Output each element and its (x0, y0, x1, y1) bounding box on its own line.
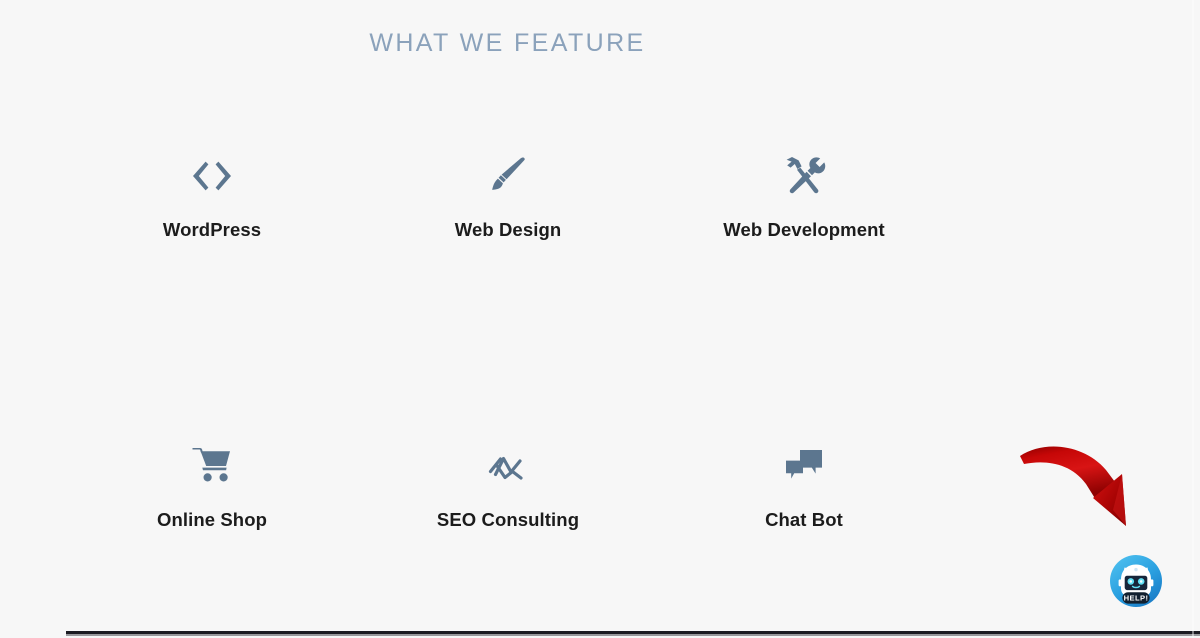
chat-widget-button[interactable]: HELP! (1109, 554, 1163, 608)
speech-bubbles-icon (782, 440, 826, 492)
bottom-divider-shadow (66, 634, 1200, 636)
page-canvas: WHAT WE FEATURE WordPress (0, 0, 1200, 638)
line-chart-icon (485, 440, 531, 492)
feature-label: Web Development (723, 219, 885, 241)
feature-label: Online Shop (157, 509, 267, 531)
feature-label: Chat Bot (765, 509, 843, 531)
feature-row: WordPress Web Design (64, 150, 952, 241)
feature-label: Web Design (455, 219, 562, 241)
viewport-edge-seam (1192, 0, 1194, 638)
feature-label: WordPress (163, 219, 261, 241)
feature-item-web-design[interactable]: Web Design (360, 150, 656, 241)
shopping-cart-icon (190, 440, 234, 492)
code-brackets-icon (188, 150, 236, 202)
chat-widget-badge-label: HELP! (1124, 593, 1149, 602)
hammer-wrench-icon (781, 150, 827, 202)
feature-grid: WordPress Web Design (64, 150, 952, 531)
feature-row: Online Shop SE (64, 440, 952, 531)
feature-label: SEO Consulting (437, 509, 579, 531)
section-heading: WHAT WE FEATURE (0, 29, 1015, 58)
feature-item-chat-bot[interactable]: Chat Bot (656, 440, 952, 531)
feature-item-seo-consulting[interactable]: SEO Consulting (360, 440, 656, 531)
feature-item-wordpress[interactable]: WordPress (64, 150, 360, 241)
curved-red-arrow-icon (1014, 438, 1144, 540)
paintbrush-icon (487, 150, 529, 202)
feature-item-web-development[interactable]: Web Development (656, 150, 952, 241)
feature-item-online-shop[interactable]: Online Shop (64, 440, 360, 531)
chat-widget-badge: HELP! (1122, 592, 1149, 603)
